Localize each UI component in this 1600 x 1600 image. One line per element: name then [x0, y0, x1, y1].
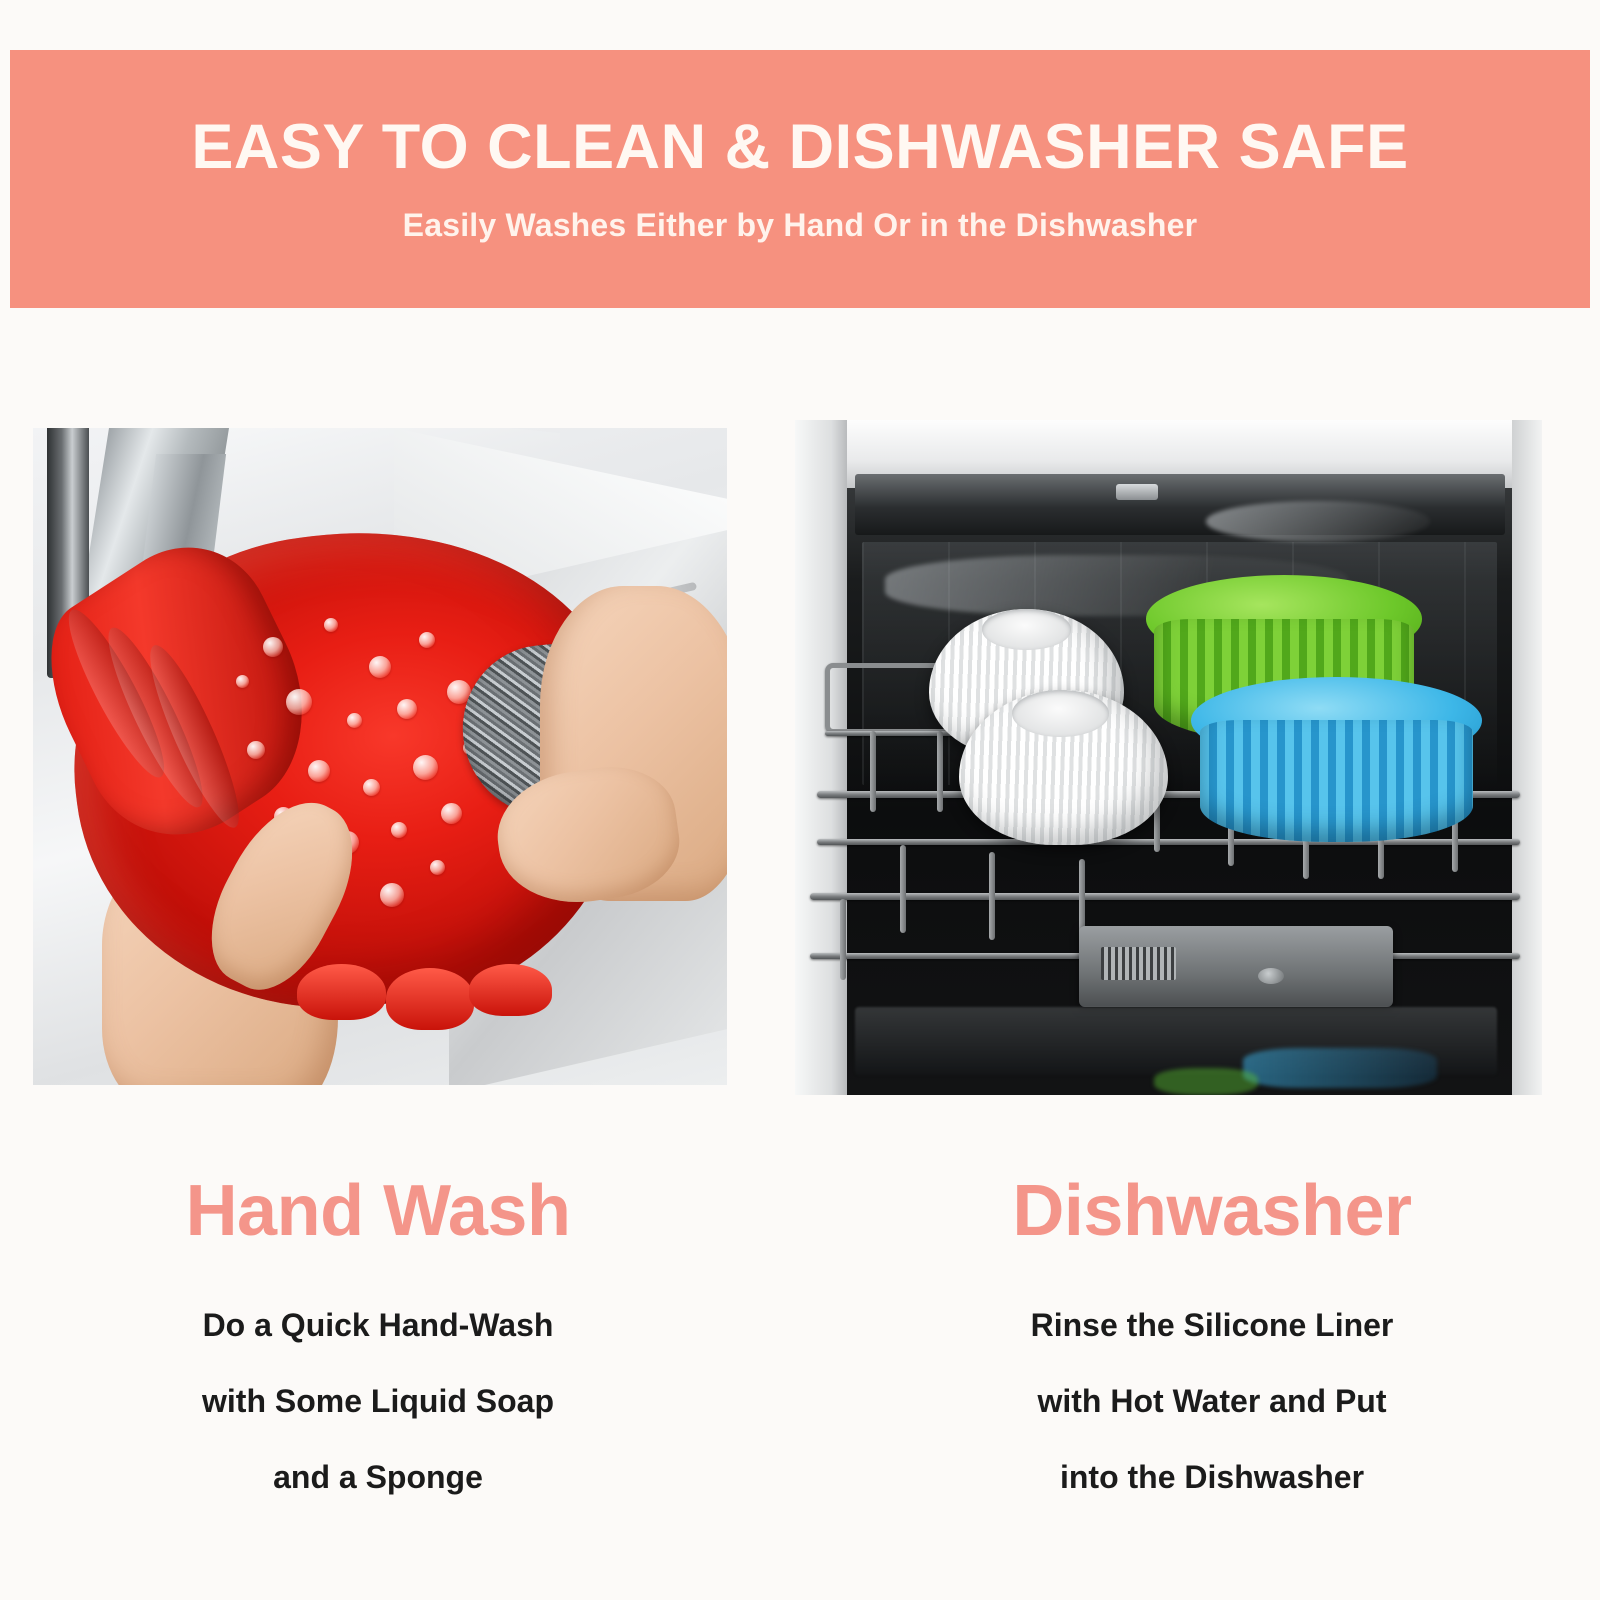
- dishwasher-title: Dishwasher: [862, 1175, 1562, 1247]
- dishwasher-line-3: into the Dishwasher: [862, 1461, 1562, 1493]
- banner-subtitle: Easily Washes Either by Hand Or in the D…: [403, 207, 1198, 244]
- filter-vents: [1101, 947, 1176, 981]
- dishwasher-line-2: with Hot Water and Put: [862, 1385, 1562, 1417]
- dishwasher-right-edge: [1512, 420, 1542, 1095]
- water-droplet: [380, 883, 404, 907]
- water-droplet: [308, 760, 330, 782]
- water-droplet: [286, 689, 312, 715]
- water-droplet: [369, 656, 391, 678]
- liner-rim-wave: [386, 968, 475, 1029]
- water-droplet: [347, 713, 362, 728]
- liner-fluted-wall: [1200, 720, 1474, 842]
- water-droplet: [391, 822, 407, 838]
- water-droplet: [247, 741, 265, 759]
- blue-silicone-liner: [1191, 677, 1482, 846]
- rack-bar: [810, 893, 1520, 900]
- liner-rim-wave: [297, 964, 386, 1021]
- lower-rack-blue-item: [1243, 1048, 1437, 1089]
- rack-tine: [840, 899, 846, 980]
- water-droplet: [441, 803, 462, 824]
- rack-tine: [989, 852, 995, 940]
- cavity-highlight: [1206, 501, 1430, 542]
- filter-knob: [1258, 968, 1284, 984]
- hand-wash-line-2: with Some Liquid Soap: [28, 1385, 728, 1417]
- white-bowl-foot: [1012, 690, 1109, 737]
- dishwasher-left-edge: [795, 420, 847, 1095]
- water-droplet: [236, 675, 249, 688]
- white-bowl-foot: [982, 609, 1072, 650]
- hand-wash-caption: Hand Wash Do a Quick Hand-Wash with Some…: [28, 1175, 728, 1493]
- hand-wash-line-1: Do a Quick Hand-Wash: [28, 1309, 728, 1341]
- hand-wash-title: Hand Wash: [28, 1175, 728, 1247]
- banner-title: EASY TO CLEAN & DISHWASHER SAFE: [191, 114, 1408, 180]
- dishwasher-caption: Dishwasher Rinse the Silicone Liner with…: [862, 1175, 1562, 1493]
- headline-banner: EASY TO CLEAN & DISHWASHER SAFE Easily W…: [10, 50, 1590, 308]
- dishwasher-photo: [795, 420, 1542, 1095]
- hand-wash-line-3: and a Sponge: [28, 1461, 728, 1493]
- water-droplet: [430, 860, 445, 875]
- rack-tine: [870, 731, 876, 812]
- dishwasher-latch: [1116, 484, 1158, 500]
- lower-rack-green-item: [1154, 1068, 1259, 1095]
- liner-rim-wave: [469, 964, 552, 1016]
- rack-tine: [900, 845, 906, 933]
- dishwasher-line-1: Rinse the Silicone Liner: [862, 1309, 1562, 1341]
- hand-wash-photo: [33, 428, 727, 1085]
- water-droplet: [397, 699, 417, 719]
- rack-tine: [937, 731, 943, 812]
